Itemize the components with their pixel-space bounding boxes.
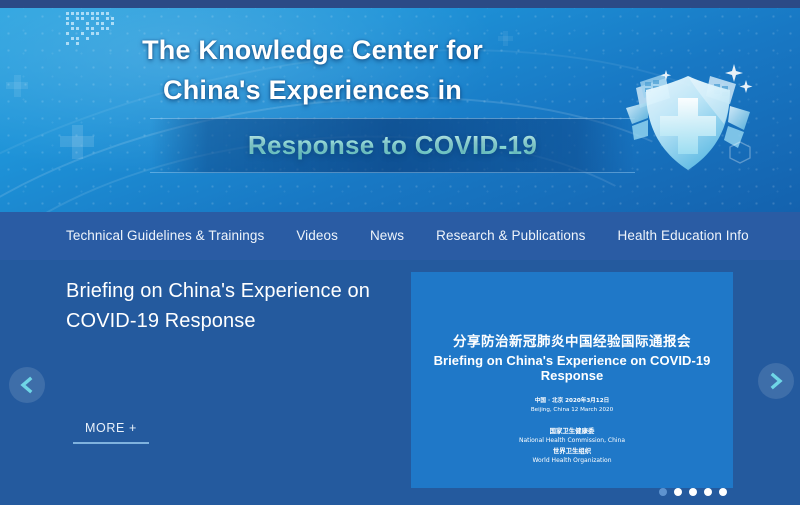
slider-prev-button[interactable]: [9, 367, 45, 403]
slider-dot-5[interactable]: [719, 488, 727, 496]
slide-image-cn-meta: 中国 · 北京 2020年3月12日: [411, 397, 733, 406]
slide-image-org1-en: National Health Commission, China: [411, 436, 733, 446]
chevron-right-icon: [768, 372, 784, 390]
banner-title: The Knowledge Center for China's Experie…: [0, 30, 625, 110]
slide-image-org2-en: World Health Organization: [411, 456, 733, 466]
slide-image-en-title: Briefing on China's Experience on COVID-…: [411, 353, 733, 383]
slide-image-en-meta: Beijing, China 12 March 2020: [411, 406, 733, 415]
site-banner: The Knowledge Center for China's Experie…: [0, 8, 800, 212]
banner-subtitle: Response to COVID-19: [150, 126, 635, 164]
slide-image[interactable]: 分享防治新冠肺炎中国经验国际通报会 Briefing on China's Ex…: [411, 272, 733, 488]
slide-image-organizations: 国家卫生健康委 National Health Commission, Chin…: [411, 426, 733, 466]
slider-dot-3[interactable]: [689, 488, 697, 496]
shield-medical-cross-icon: [618, 56, 758, 184]
slider-dot-1[interactable]: [659, 488, 667, 496]
slider-dot-4[interactable]: [704, 488, 712, 496]
slide-text-block: Briefing on China's Experience on COVID-…: [66, 276, 396, 444]
more-button[interactable]: MORE +: [73, 418, 149, 444]
main-navigation: Technical Guidelines & Trainings Videos …: [0, 212, 800, 260]
nav-item-videos[interactable]: Videos: [296, 228, 338, 244]
slide-image-org2-cn: 世界卫生组织: [411, 446, 733, 456]
nav-item-news[interactable]: News: [370, 228, 404, 244]
banner-title-line-1: The Knowledge Center for: [142, 35, 483, 65]
nav-item-research-publications[interactable]: Research & Publications: [436, 228, 585, 244]
chevron-left-icon: [19, 376, 35, 394]
nav-item-technical-guidelines-trainings[interactable]: Technical Guidelines & Trainings: [66, 228, 264, 244]
banner-title-line-2: China's Experiences in: [0, 70, 625, 110]
top-accent-strip: [0, 0, 800, 8]
medical-cross-decor-icon: [60, 136, 94, 147]
slider-pagination: [659, 488, 727, 496]
nav-item-health-education-info[interactable]: Health Education Info: [618, 228, 749, 244]
hero-slider: Briefing on China's Experience on COVID-…: [0, 260, 800, 505]
slider-next-button[interactable]: [758, 363, 794, 399]
slide-image-meta: 中国 · 北京 2020年3月12日 Beijing, China 12 Mar…: [411, 397, 733, 415]
page-root: The Knowledge Center for China's Experie…: [0, 0, 800, 505]
slider-dot-2[interactable]: [674, 488, 682, 496]
slide-headline: Briefing on China's Experience on COVID-…: [66, 276, 396, 336]
slide-image-cn-title: 分享防治新冠肺炎中国经验国际通报会: [411, 330, 733, 350]
slide-image-org1-cn: 国家卫生健康委: [411, 426, 733, 436]
